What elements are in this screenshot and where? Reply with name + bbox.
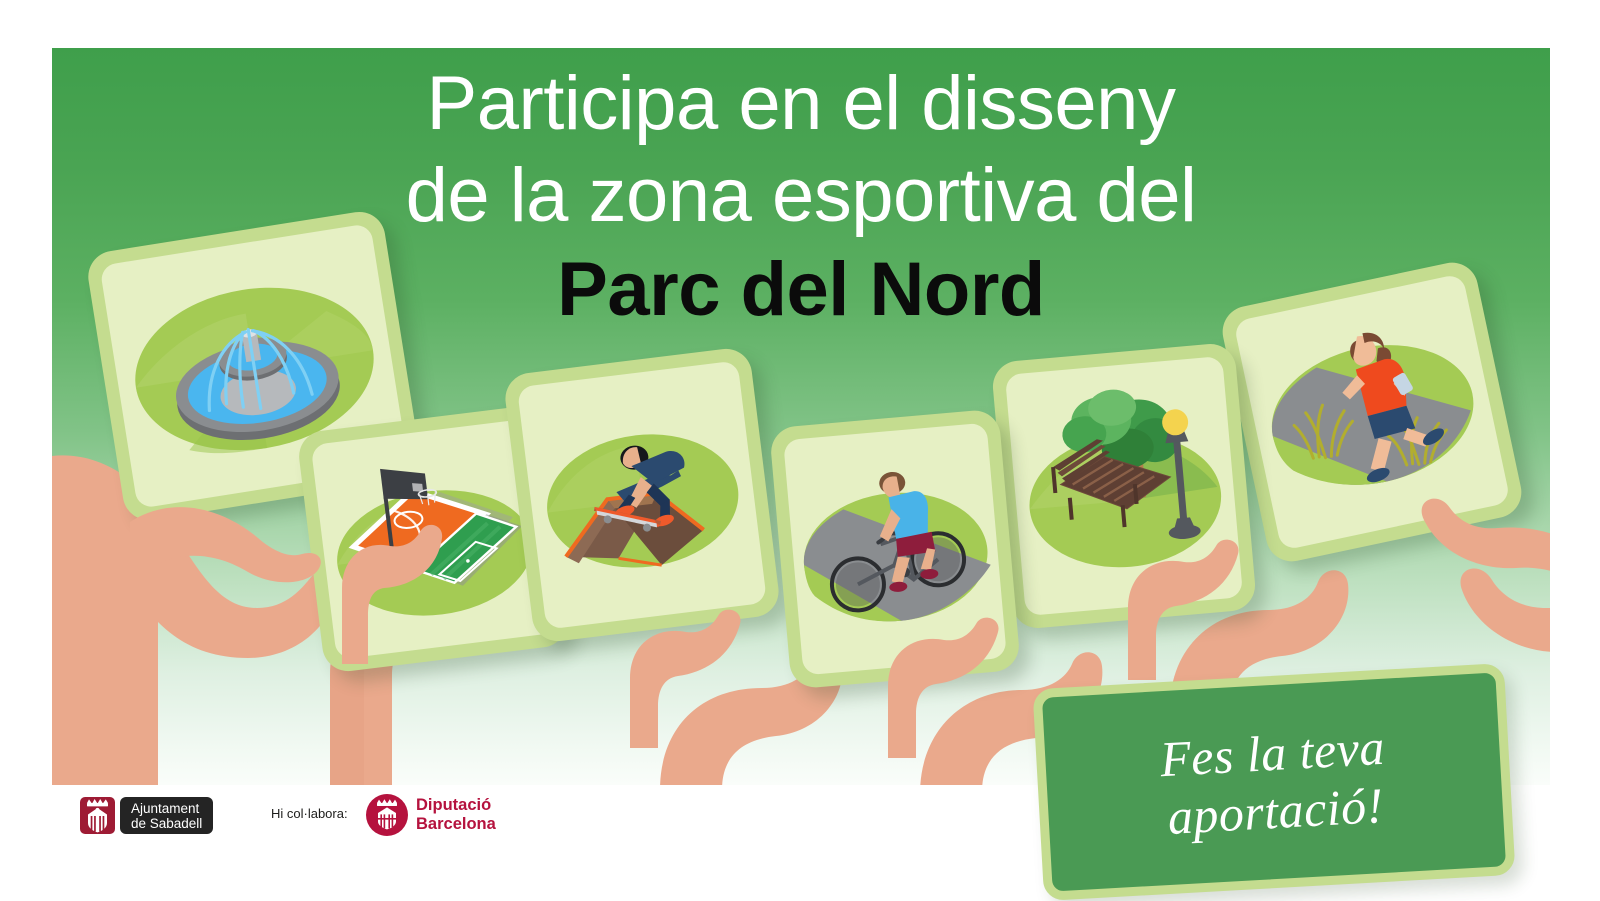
card-skate-face xyxy=(517,360,767,629)
finger-over-bike xyxy=(866,618,1016,758)
finger-over-run xyxy=(1348,486,1550,616)
card-skate-frame xyxy=(502,346,781,644)
headline-line-1: Participa en el disseny xyxy=(52,58,1550,150)
finger-over-fountain xyxy=(130,462,330,592)
sabadell-crest-icon xyxy=(80,797,115,834)
sabadell-line-1: Ajuntament xyxy=(131,801,202,816)
finger-over-bench xyxy=(1108,540,1258,680)
logo-diputacio-barcelona[interactable]: Diputació Barcelona xyxy=(366,794,496,836)
logo-ajuntament-de-sabadell[interactable]: Ajuntament de Sabadell xyxy=(80,797,213,834)
diputacio-nameplate: Diputació Barcelona xyxy=(416,796,496,834)
sabadell-line-2: de Sabadell xyxy=(131,816,202,831)
collaboration-label: Hi col·labora: xyxy=(271,806,348,821)
footer: Ajuntament de Sabadell Hi col·labora: xyxy=(0,786,1600,900)
skateboarder-icon xyxy=(517,360,767,629)
sabadell-nameplate: Ajuntament de Sabadell xyxy=(120,797,213,834)
finger-over-court xyxy=(328,524,448,664)
card-skate[interactable] xyxy=(502,346,781,644)
finger-over-skate xyxy=(612,608,762,748)
diputacio-crest-icon xyxy=(366,794,408,836)
diputacio-line-1: Diputació xyxy=(416,796,496,815)
poster-canvas: Participa en el disseny de la zona espor… xyxy=(0,0,1600,900)
diputacio-line-2: Barcelona xyxy=(416,815,496,834)
